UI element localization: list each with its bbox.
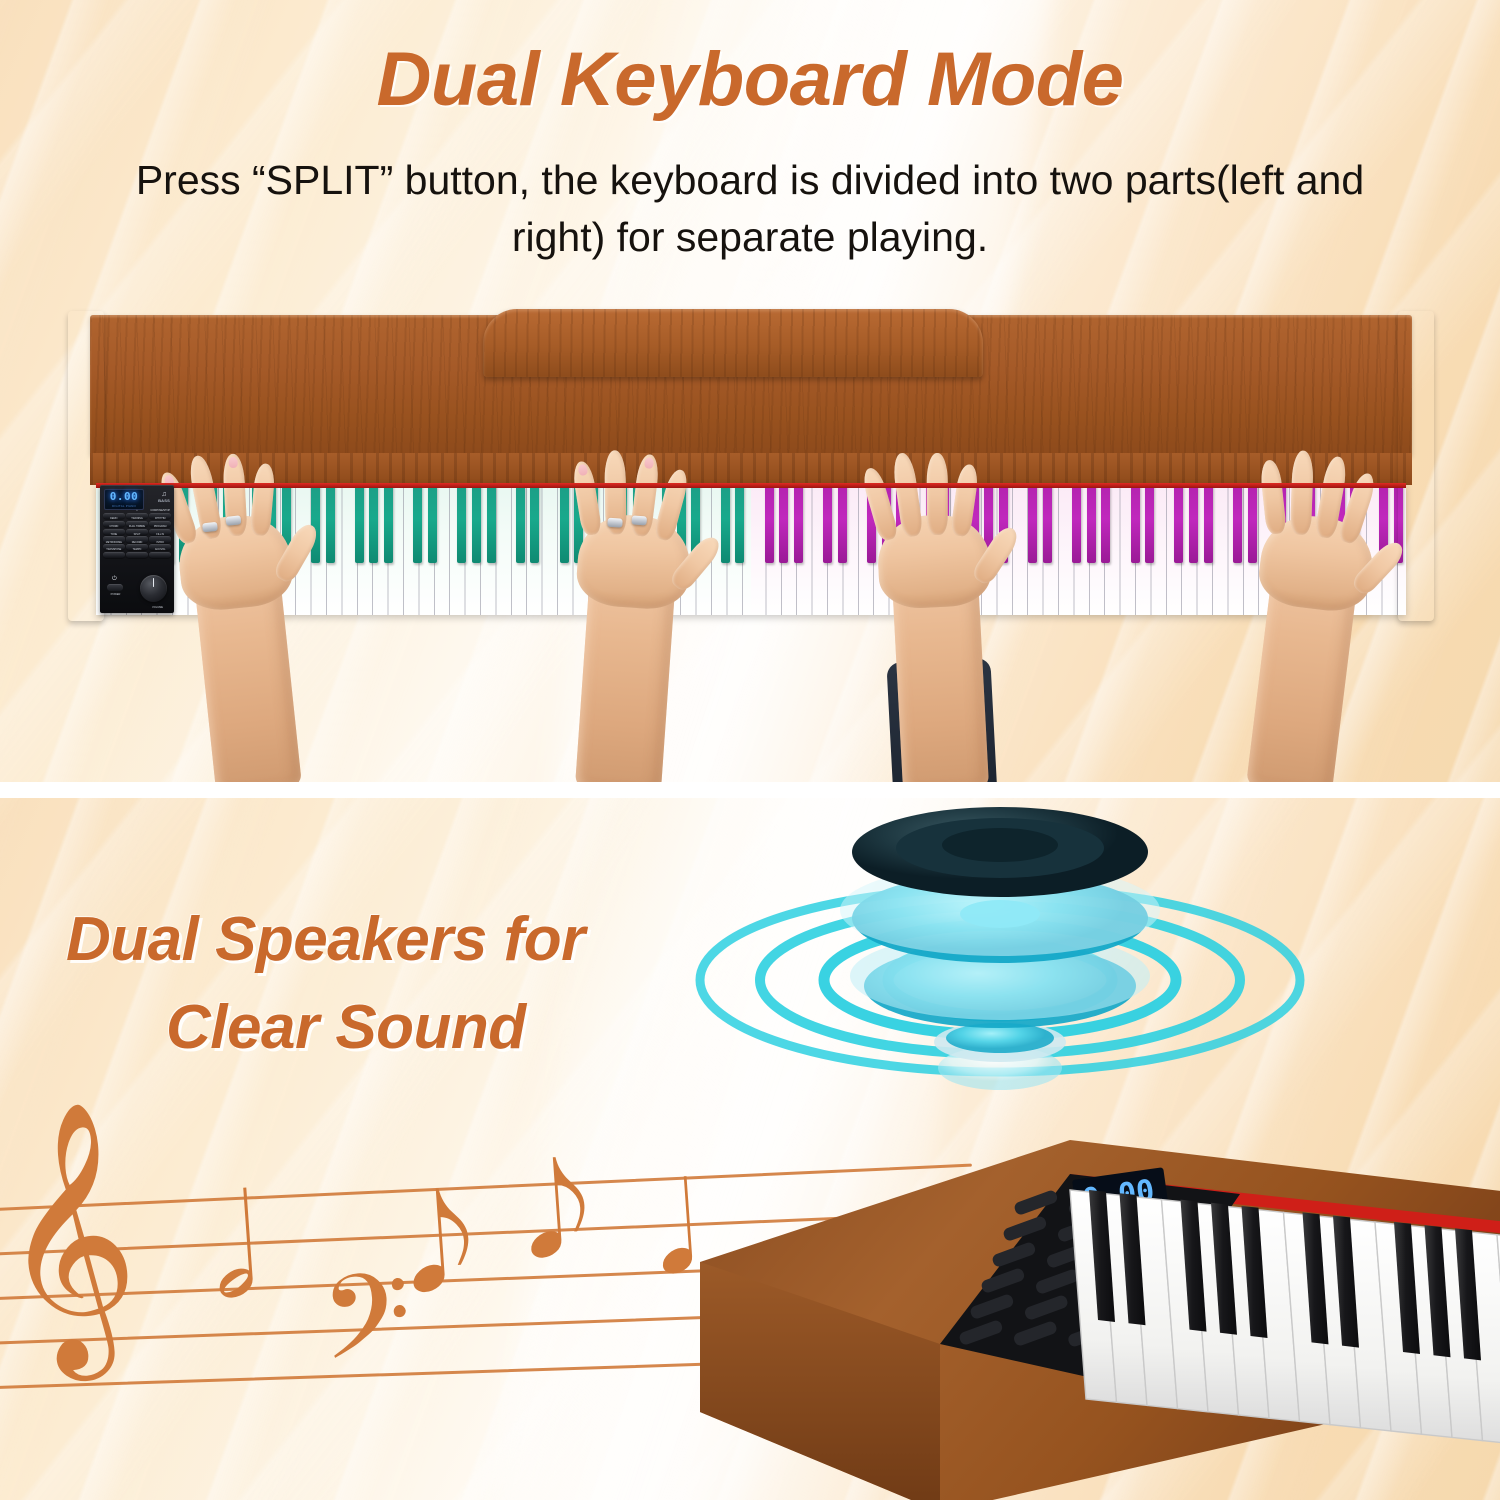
fingernail [577,464,588,476]
control-button-label: RECORD [126,541,148,544]
control-button-label: RHYTHM [149,517,171,520]
player-hand [529,450,728,788]
treble-clef-icon: 𝄞 [0,1114,144,1355]
control-button-label: DUAL TIMBRE [126,525,148,528]
control-button-label: TEMPO [126,548,148,551]
exploded-speaker-graphic [690,798,1310,1120]
red-accent-strip [96,483,1406,488]
player-hands-group [0,455,1500,788]
power-icon: ⏻ [112,576,117,582]
ring [225,515,241,526]
finger [571,460,602,536]
control-button-grid[interactable]: +COMPOSE/STOPDEMOTRAININGRHYTHMCHORDDUAL… [103,513,171,558]
half-note-icon: 𝅗𝅥 [207,1178,261,1321]
speaker-svg [690,798,1310,1120]
piano-closeup-svg: 0.00 [640,1082,1500,1500]
control-button-label: PROGRAM [149,525,171,528]
control-button-label: ACC/VOL [149,548,171,551]
ring [607,518,623,528]
lcd-caption: DIGITAL PIANO [112,504,136,508]
fingernail [228,457,238,468]
bass-clef-icon: 𝄢 [317,1259,417,1405]
brand-badge: ♫ BASS [158,491,170,503]
control-button-label: TRAINING [126,517,148,520]
volume-knob[interactable] [140,575,167,602]
fingernail [644,457,654,469]
finger [950,463,980,537]
finger [1290,450,1314,535]
page-title: Dual Keyboard Mode [0,36,1500,123]
control-button-label: TONE [103,533,125,536]
speaker-dust-cap [960,900,1040,928]
panel-divider [0,782,1500,798]
speaker-top-dome [942,828,1058,862]
lcd-display: 0.00 DIGITAL PIANO [104,489,144,510]
control-panel[interactable]: 0.00 DIGITAL PIANO ♫ BASS +COMPOSE/STOPD… [100,485,174,613]
ring [202,522,218,533]
control-button-label: DEMO [103,517,125,520]
digital-piano-closeup: 0.00 [640,1082,1500,1500]
page-subtitle: Press “SPLIT” button, the keyboard is di… [120,152,1380,265]
control-button-label: SPLIT [126,533,148,536]
power-label: POWER [105,593,126,596]
eighth-note-icon: 𝅘𝅥𝅮 [402,1176,479,1312]
section-title-line2: Clear Sound [66,984,706,1072]
finger [653,467,691,542]
panel-dual-speakers: Dual Speakers for Clear Sound 𝄞𝅗𝅥𝅘𝅥𝅮𝄢𝅘𝅥𝅮𝅘𝅥 0.0… [0,798,1500,1500]
player-hand [1201,447,1416,788]
control-button-label: + [126,509,148,512]
section-title-speakers: Dual Speakers for Clear Sound [66,896,706,1072]
control-button-label: COMPOSE/STOP [149,509,171,512]
power-and-volume-row[interactable]: ⏻ POWER VOLUME [105,573,169,607]
panel-dual-keyboard-mode: Dual Keyboard Mode Press “SPLIT” button,… [0,0,1500,788]
control-button-label: TRANSPOSE [103,548,125,551]
control-button-acc-vol[interactable]: ACC/VOL [149,552,171,558]
brand-text: BASS [158,498,170,503]
control-button-tempo[interactable]: TEMPO [126,552,148,558]
player-hand [840,451,1033,788]
control-button-label: METRONOME [103,541,125,544]
finger [927,453,948,535]
eighth-note-2-icon: 𝅘𝅥𝅮 [520,1146,594,1278]
finger [1259,459,1287,535]
control-button-label: FILL IN [149,533,171,536]
product-feature-image: Dual Keyboard Mode Press “SPLIT” button,… [0,0,1500,1500]
control-button-label: CHORD [103,525,125,528]
lcd-value: 0.00 [110,491,139,502]
control-button-label: INTRO [149,541,171,544]
volume-label: VOLUME [152,606,163,609]
power-button[interactable] [107,584,123,591]
section-title-line1: Dual Speakers for [66,905,585,974]
music-rest [483,309,983,377]
music-note-icon: ♫ [158,491,170,498]
ring [631,515,647,525]
control-button-transpose[interactable]: TRANSPOSE [103,552,125,558]
